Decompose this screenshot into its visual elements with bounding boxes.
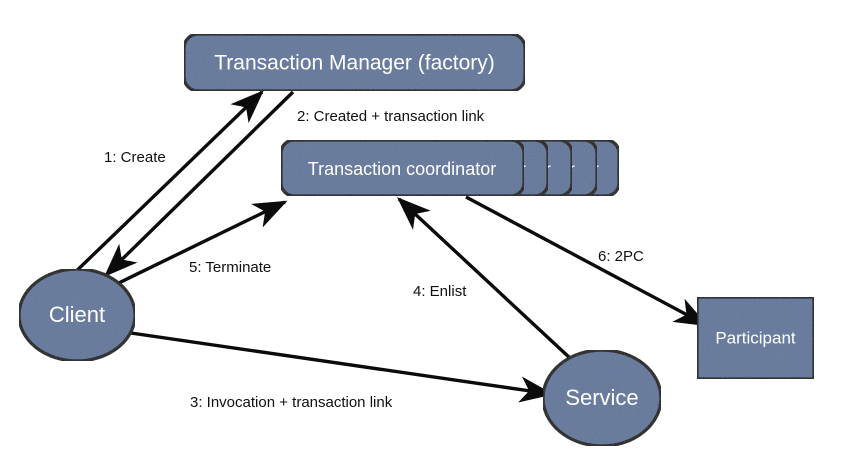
edge-5-terminate [92, 202, 285, 296]
node-client[interactable]: Client [19, 269, 135, 361]
diagram-canvas: Transaction Manager (factory) r r r r [0, 0, 848, 469]
edge-4-label: 4: Enlist [413, 283, 467, 300]
edge-3-label: 3: Invocation + transaction link [190, 394, 393, 411]
edge-2-line [106, 92, 293, 275]
edge-5-label: 5: Terminate [189, 259, 271, 276]
coordinator-front-card[interactable]: Transaction coordinator [281, 140, 524, 196]
edge-2-created [106, 92, 293, 275]
diagram-svg: Transaction Manager (factory) r r r r [0, 0, 848, 469]
edge-4-line [399, 199, 571, 359]
edge-1-create [66, 92, 262, 281]
edge-3-invocation [110, 330, 551, 394]
edge-6-line [466, 197, 706, 325]
edge-1-label: 1: Create [104, 149, 166, 166]
edge-6-label: 6: 2PC [598, 248, 644, 265]
node-service[interactable]: Service [543, 350, 661, 446]
client-label: Client [49, 302, 105, 327]
transaction-coordinator-label: Transaction coordinator [308, 159, 496, 179]
edge-6-2pc [466, 197, 706, 325]
node-participant[interactable]: Participant [697, 297, 814, 379]
service-label: Service [565, 385, 638, 410]
participant-label: Participant [715, 328, 796, 347]
edge-3-line [110, 330, 551, 394]
edge-4-enlist [399, 199, 571, 359]
node-transaction-coordinator-stack[interactable]: r r r r Transaction coordinator [281, 140, 619, 196]
edge-2-label: 2: Created + transaction link [297, 108, 485, 125]
transaction-manager-label: Transaction Manager (factory) [214, 52, 495, 75]
node-transaction-manager[interactable]: Transaction Manager (factory) [184, 34, 525, 91]
edge-5-line [92, 202, 285, 296]
edge-1-line [66, 92, 262, 281]
